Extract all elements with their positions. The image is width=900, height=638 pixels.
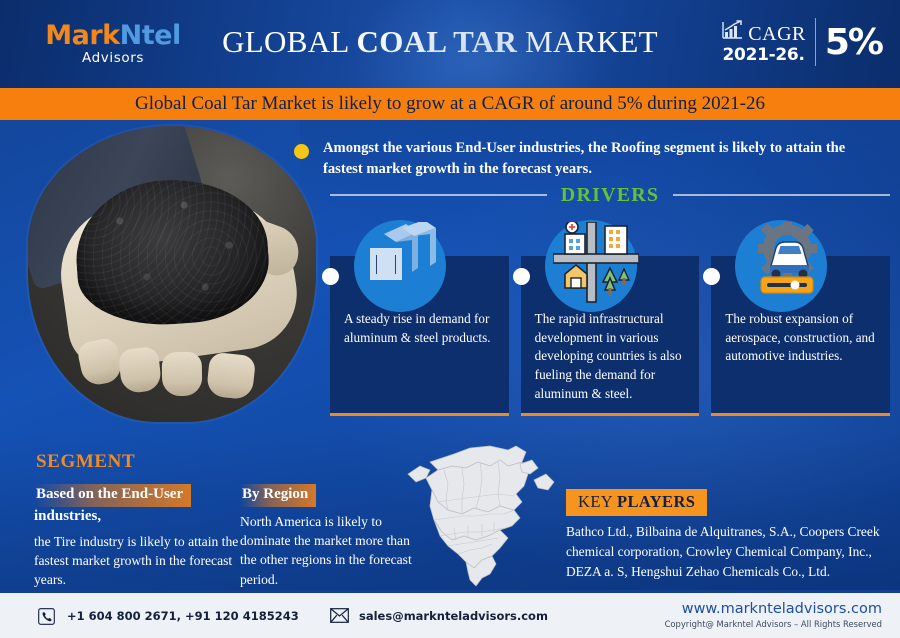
segment-enduser-chip-cont: industries, xyxy=(34,508,101,524)
segment-enduser-chip: Based on the End-User xyxy=(34,484,191,507)
photo-finger xyxy=(206,352,256,401)
cagr-value: 5% xyxy=(825,22,882,63)
infrastructure-city-icon xyxy=(545,220,637,312)
drivers-heading-label: DRIVERS xyxy=(561,184,659,207)
key-players-badge: KEY PLAYERS xyxy=(566,489,707,516)
bar-chart-growth-icon xyxy=(721,20,743,46)
drivers-card-list: A steady rise in demand for aluminum & s… xyxy=(330,256,890,416)
key-players-badge-light: KEY xyxy=(578,492,617,511)
cagr-label-group: CAGR 2021-26. xyxy=(721,20,806,64)
driver-card-text: The rapid infrastructural development in… xyxy=(535,310,686,404)
driver-card[interactable]: The rapid infrastructural development in… xyxy=(521,256,700,416)
card-bullet-dot xyxy=(513,268,530,285)
footer-website-url[interactable]: www.marknteladvisors.com xyxy=(665,601,882,617)
card-bullet-dot xyxy=(322,268,339,285)
callout-note: Amongst the various End-User industries,… xyxy=(294,138,884,180)
cagr-period: 2021-26. xyxy=(721,46,806,64)
cagr-badge: CAGR 2021-26. 5% xyxy=(721,18,882,66)
segment-section-title: SEGMENT xyxy=(36,451,135,473)
photo-finger xyxy=(162,352,203,397)
key-players-badge-bold: PLAYERS xyxy=(617,492,695,511)
segment-region-chip: By Region xyxy=(240,484,316,507)
callout-text: Amongst the various End-User industries,… xyxy=(323,138,884,180)
logo-ntel-text: Ntel xyxy=(120,20,181,51)
segment-region-heading: By Region xyxy=(240,484,416,507)
title-emphasis: COAL TAR xyxy=(357,24,518,59)
phone-icon xyxy=(38,608,58,624)
heading-rule-right xyxy=(673,194,890,196)
page-title: GLOBAL COAL TAR MARKET xyxy=(196,24,684,60)
key-players-list: Bathco Ltd., Bilbaina de Alquitranes, S.… xyxy=(566,522,884,582)
segment-enduser-body: the Tire industry is likely to attain th… xyxy=(34,532,240,590)
footer-phone[interactable]: +1 604 800 2671, +91 120 4185243 xyxy=(38,608,299,624)
title-suffix: MARKET xyxy=(517,24,658,59)
heading-rule-left xyxy=(330,194,547,196)
footer-phone-text: +1 604 800 2671, +91 120 4185243 xyxy=(67,609,299,623)
footer-copyright: Copyright@ Markntel Advisors – All Right… xyxy=(665,619,882,629)
header-bar: MarkNtel Advisors GLOBAL COAL TAR MARKET xyxy=(0,0,900,88)
driver-card-text: The robust expansion of aerospace, const… xyxy=(725,310,876,366)
brand-logo[interactable]: MarkNtel Advisors xyxy=(38,22,188,66)
automotive-car-gear-icon xyxy=(735,220,827,312)
infographic-page: MarkNtel Advisors GLOBAL COAL TAR MARKET xyxy=(0,0,900,638)
logo-subtitle: Advisors xyxy=(38,52,188,66)
footer-email[interactable]: sales@marknteladvisors.com xyxy=(330,608,548,624)
logo-wordmark: MarkNtel xyxy=(38,22,188,49)
subtitle-banner: Global Coal Tar Market is likely to grow… xyxy=(0,88,900,120)
cagr-divider xyxy=(815,18,816,66)
footer-website[interactable]: www.marknteladvisors.com Copyright@ Mark… xyxy=(665,601,882,629)
yellow-bullet-icon xyxy=(294,144,309,159)
segment-by-region: By Region North America is likely to dom… xyxy=(240,484,416,589)
drivers-heading: DRIVERS xyxy=(330,182,890,208)
driver-card[interactable]: The robust expansion of aerospace, const… xyxy=(711,256,890,416)
footer-email-text: sales@marknteladvisors.com xyxy=(359,609,548,623)
segment-region-body: North America is likely to dominate the … xyxy=(240,512,416,589)
segment-enduser-heading: Based on the End-User industries, xyxy=(34,484,240,527)
driver-card-text: A steady rise in demand for aluminum & s… xyxy=(344,310,495,347)
hero-photo xyxy=(28,126,316,422)
steel-beam-icon xyxy=(354,220,446,312)
logo-mark-text: Mark xyxy=(45,20,119,51)
card-bullet-dot xyxy=(703,268,720,285)
envelope-icon xyxy=(330,608,350,624)
north-america-map-icon xyxy=(404,444,584,594)
driver-card[interactable]: A steady rise in demand for aluminum & s… xyxy=(330,256,509,416)
subtitle-banner-text: Global Coal Tar Market is likely to grow… xyxy=(135,93,765,115)
title-prefix: GLOBAL xyxy=(222,24,356,59)
footer-bar: +1 604 800 2671, +91 120 4185243 sales@m… xyxy=(0,590,900,638)
cagr-label-text: CAGR xyxy=(748,24,806,46)
segment-by-enduser: Based on the End-User industries, the Ti… xyxy=(34,484,240,589)
cagr-label-row: CAGR xyxy=(721,20,806,46)
